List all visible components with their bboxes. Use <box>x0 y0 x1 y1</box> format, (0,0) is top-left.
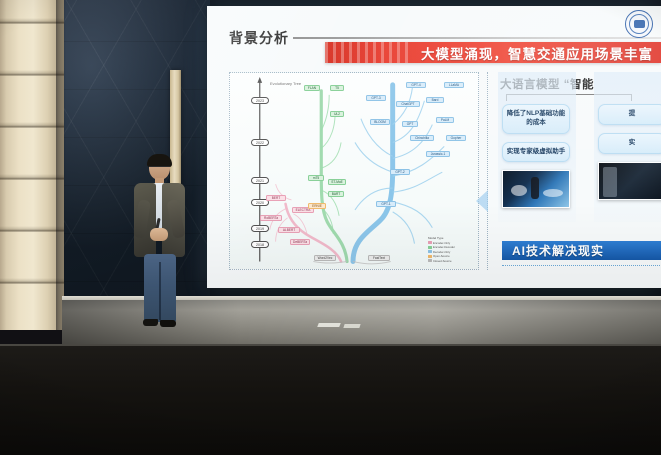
banner-stripes <box>325 42 409 63</box>
timeline-year: 2018 <box>251 241 269 248</box>
tree-node: BERT <box>266 195 286 201</box>
tree-node: Chinchilla <box>410 135 434 141</box>
presenter-shoe <box>160 320 176 327</box>
university-emblem-icon <box>625 10 653 38</box>
benefit-bubble: 实现专家级虚拟助手 <box>502 142 570 163</box>
tree-node: PaLM <box>436 117 454 123</box>
tree-node: GPT-2 <box>390 169 410 175</box>
benefit-bubble: 降低了NLP基础功能的成本 <box>502 104 570 134</box>
photo-shape <box>531 177 539 199</box>
presenter-hands <box>150 228 168 241</box>
timeline-year: 2023 <box>251 97 269 104</box>
tree-node: GPT-1 <box>376 201 396 207</box>
tree-node: GPT-4 <box>406 82 426 88</box>
legend-swatch <box>428 255 432 258</box>
photo-shape <box>603 167 617 197</box>
emblem-ring <box>629 14 649 34</box>
device-screen-photo <box>598 162 661 200</box>
tree-node: ChatGPT <box>396 101 420 107</box>
presenter-shoe <box>143 319 158 326</box>
emblem-core <box>634 20 645 28</box>
legend-label: Closed-Source <box>433 259 452 263</box>
legend-title: Model Type <box>428 236 474 240</box>
tree-node: ERNIE <box>308 203 326 209</box>
tree-node: ALBERT <box>278 227 300 233</box>
presenter-jeans <box>144 254 176 322</box>
legend-item: Open-Source <box>428 254 474 258</box>
legend-label: Open-Source <box>433 254 450 258</box>
laptop-working-photo <box>502 170 570 208</box>
presenter <box>128 156 190 334</box>
legend-item: Encoder-Decoder <box>428 245 474 249</box>
projection-screen: 背景分析 大模型涌现，智慧交通应用场景丰富 <box>207 6 661 288</box>
tree-node: BLOOM <box>370 119 390 125</box>
legend-swatch <box>428 241 432 244</box>
legend-label: Encoder-Only <box>433 241 450 245</box>
blue-banner-text: AI技术解决现实 <box>512 242 604 259</box>
benefit-bubble: 提 <box>598 104 661 125</box>
tree-node: ST-MoE <box>328 179 346 185</box>
photo-shape <box>511 185 527 196</box>
red-banner-text: 大模型涌现，智慧交通应用场景丰富 <box>421 43 653 63</box>
conference-photo-scene: 背景分析 大模型涌现，智慧交通应用场景丰富 <box>0 0 661 455</box>
slide-title: 背景分析 <box>229 28 289 48</box>
llm-evolutionary-tree-diagram: Evolutionary Tree 2023 2022 2021 2020 20… <box>229 72 479 270</box>
legend-label: Decoder-Only <box>433 250 450 254</box>
tree-node: FastText <box>368 255 390 261</box>
legend-item: Decoder-Only <box>428 250 474 254</box>
tree-node: LLaMA <box>444 82 464 88</box>
tree-node: FLAN <box>304 85 320 91</box>
right-content-panel: 大语言模型 “智能 降低了NLP基础功能的成本 实现专家级虚拟助手 提 实 <box>487 72 661 270</box>
audience-area <box>0 346 661 455</box>
legend-swatch <box>428 246 432 249</box>
timeline-year: 2022 <box>251 139 269 146</box>
column-shadow <box>56 0 66 330</box>
tree-node: Word2Vec <box>314 255 336 261</box>
timeline-year: 2019 <box>251 225 269 232</box>
photo-shape <box>543 189 563 197</box>
benefit-column-right: 提 实 <box>598 104 661 200</box>
tree-node: Jurassic-1 <box>426 151 450 157</box>
tree-node: GPT-3 <box>366 95 386 101</box>
slide-red-banner: 大模型涌现，智慧交通应用场景丰富 <box>325 42 661 63</box>
benefit-column-left: 降低了NLP基础功能的成本 实现专家级虚拟助手 <box>502 104 570 208</box>
beige-fluted-column <box>0 0 64 330</box>
tree-legend: Model Type Encoder-Only Encoder-Decoder … <box>428 236 474 264</box>
tree-node: mT5 <box>308 175 324 181</box>
legend-item: Encoder-Only <box>428 241 474 245</box>
tree-node: BART <box>328 191 344 197</box>
timeline-year: 2021 <box>251 177 269 184</box>
tree-node: UL2 <box>330 111 344 117</box>
tree-node: DeBERTa <box>290 239 310 245</box>
title-rule <box>293 37 661 39</box>
stage-paper <box>343 324 360 328</box>
tree-node: T5 <box>330 85 344 91</box>
legend-swatch <box>428 259 432 262</box>
tree-node: Bard <box>426 97 444 103</box>
tree-node: Gopher <box>446 135 466 141</box>
panel-dotted-rule <box>502 265 661 266</box>
glasses-icon <box>149 166 170 170</box>
flow-arrow-icon <box>476 190 488 212</box>
slide-blue-banner: AI技术解决现实 <box>502 241 661 260</box>
stage-paper <box>317 323 341 327</box>
benefit-bubble: 实 <box>598 133 661 154</box>
legend-item: Closed-Source <box>428 259 474 263</box>
tree-node: RoBERTa <box>260 215 282 221</box>
tree-node: OPT <box>402 121 418 127</box>
legend-label: Encoder-Decoder <box>433 245 455 249</box>
legend-swatch <box>428 250 432 253</box>
